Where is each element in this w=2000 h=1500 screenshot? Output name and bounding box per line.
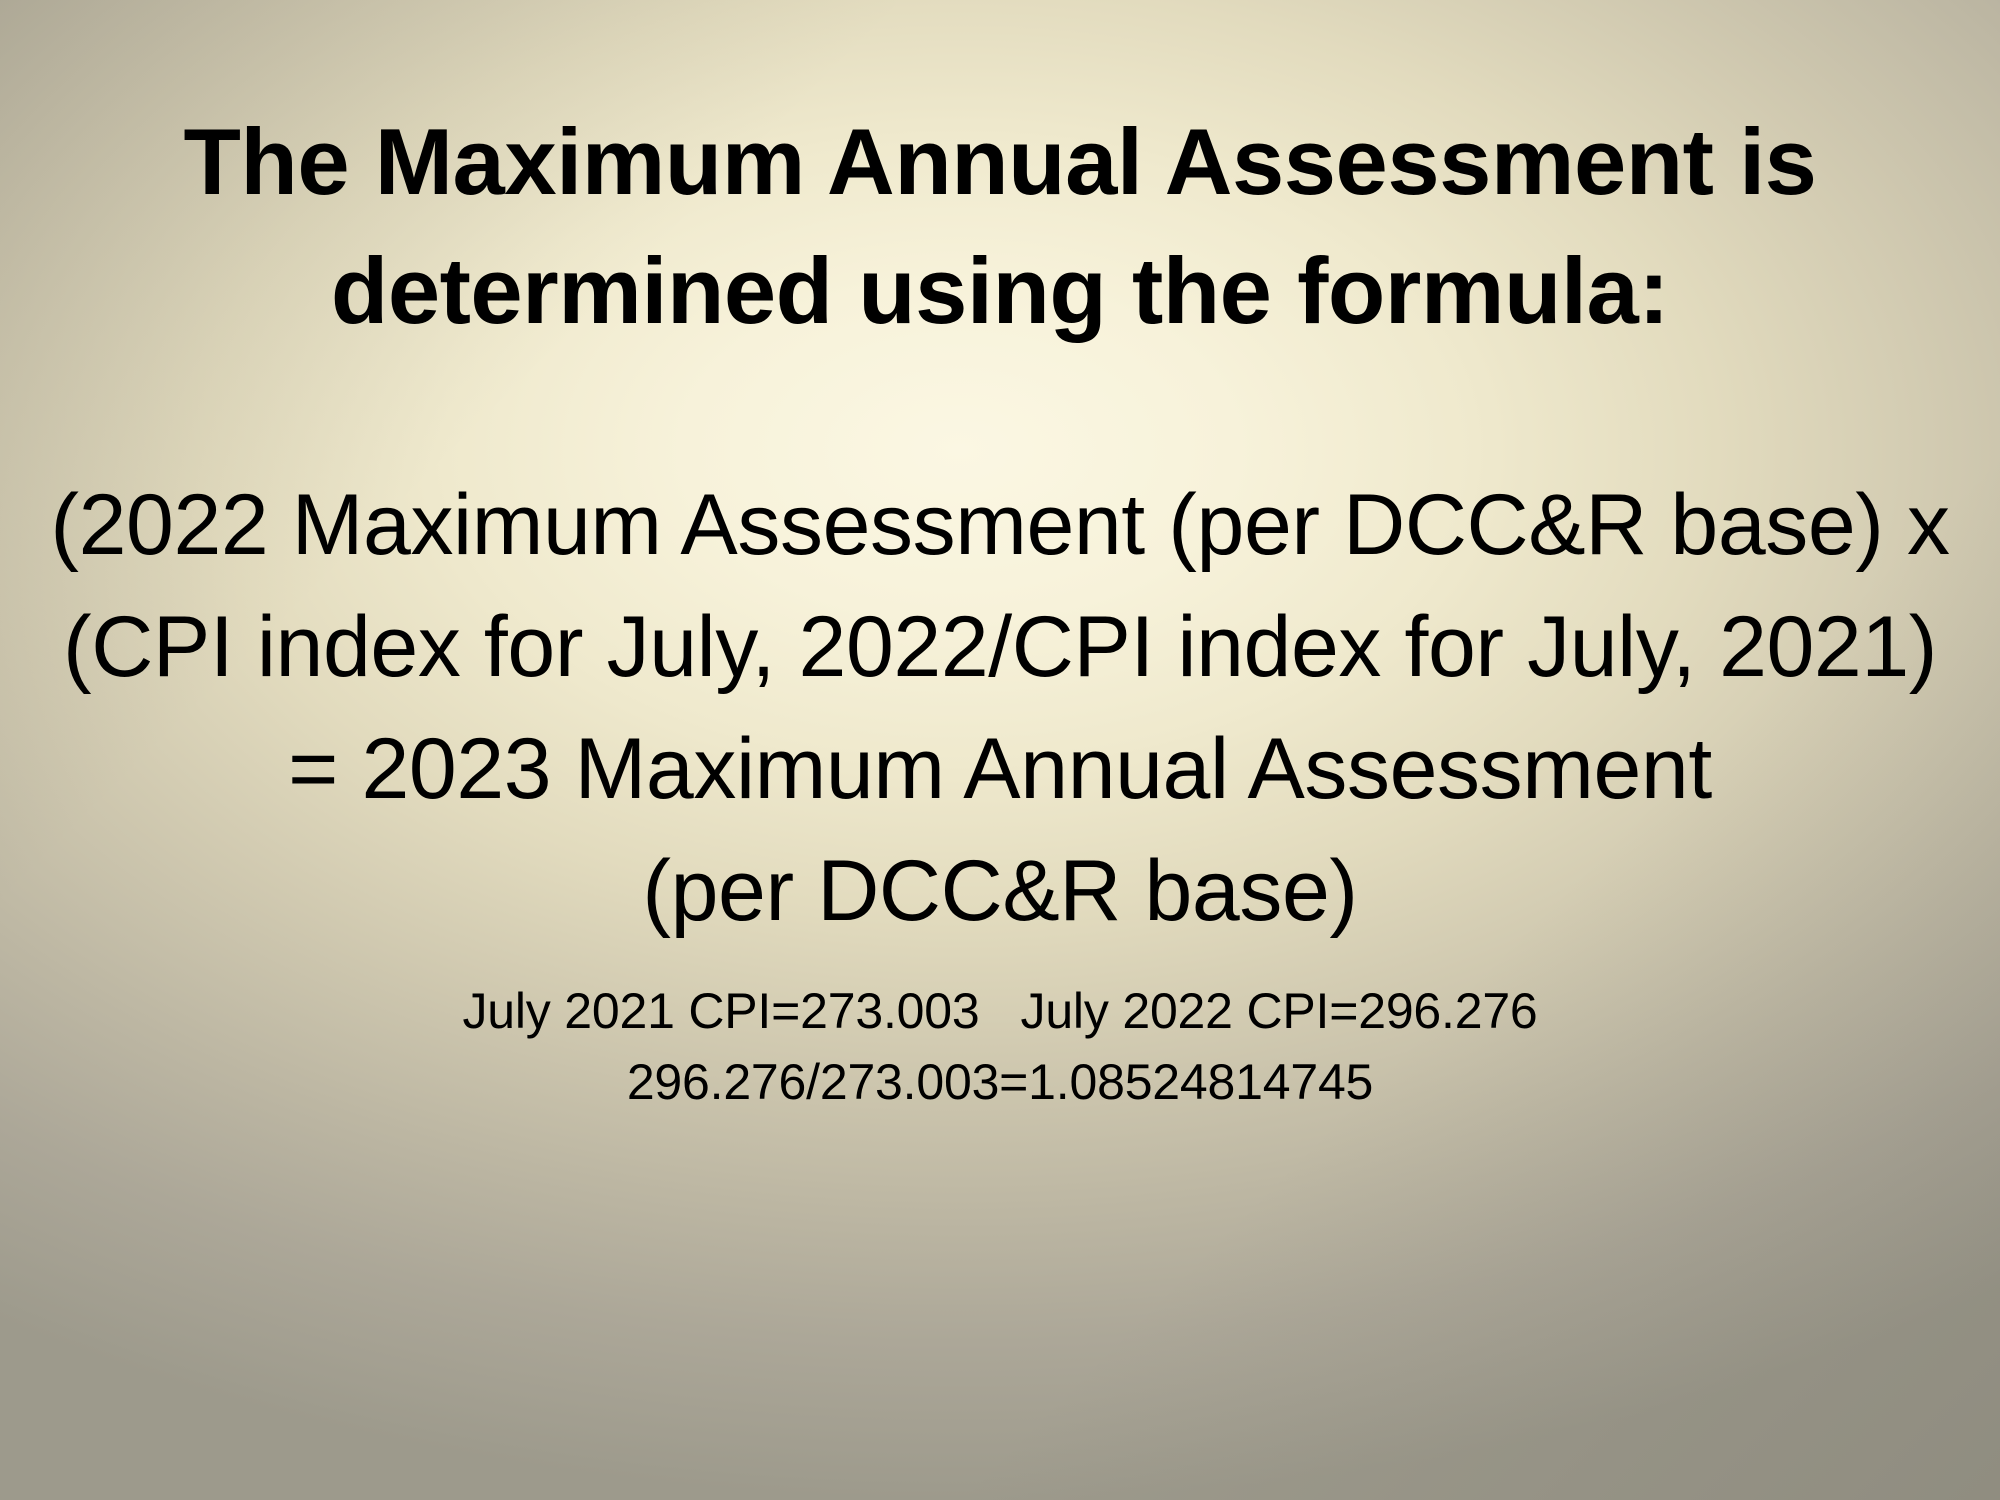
cpi-footnote: July 2021 CPI=273.003 July 2022 CPI=296.… [34, 976, 1966, 1118]
formula-line-1: (2022 Maximum Assessment (per DCC&R base… [35, 464, 1965, 708]
cpi-ratio-line: 296.276/273.003=1.08524814745 [34, 1047, 1966, 1118]
title-line-2: determined using the formula: [34, 227, 1966, 356]
presentation-slide: The Maximum Annual Assessment is determi… [0, 0, 2000, 1500]
title-line-1: The Maximum Annual Assessment is [34, 98, 1966, 227]
slide-content: The Maximum Annual Assessment is determi… [0, 0, 2000, 1500]
cpi-values-line: July 2021 CPI=273.003 July 2022 CPI=296.… [34, 976, 1966, 1047]
formula-line-3: (per DCC&R base) [34, 830, 1966, 952]
slide-title: The Maximum Annual Assessment is determi… [34, 0, 1966, 356]
formula-line-2: = 2023 Maximum Annual Assessment [34, 708, 1966, 830]
formula-body: (2022 Maximum Assessment (per DCC&R base… [34, 464, 1966, 952]
